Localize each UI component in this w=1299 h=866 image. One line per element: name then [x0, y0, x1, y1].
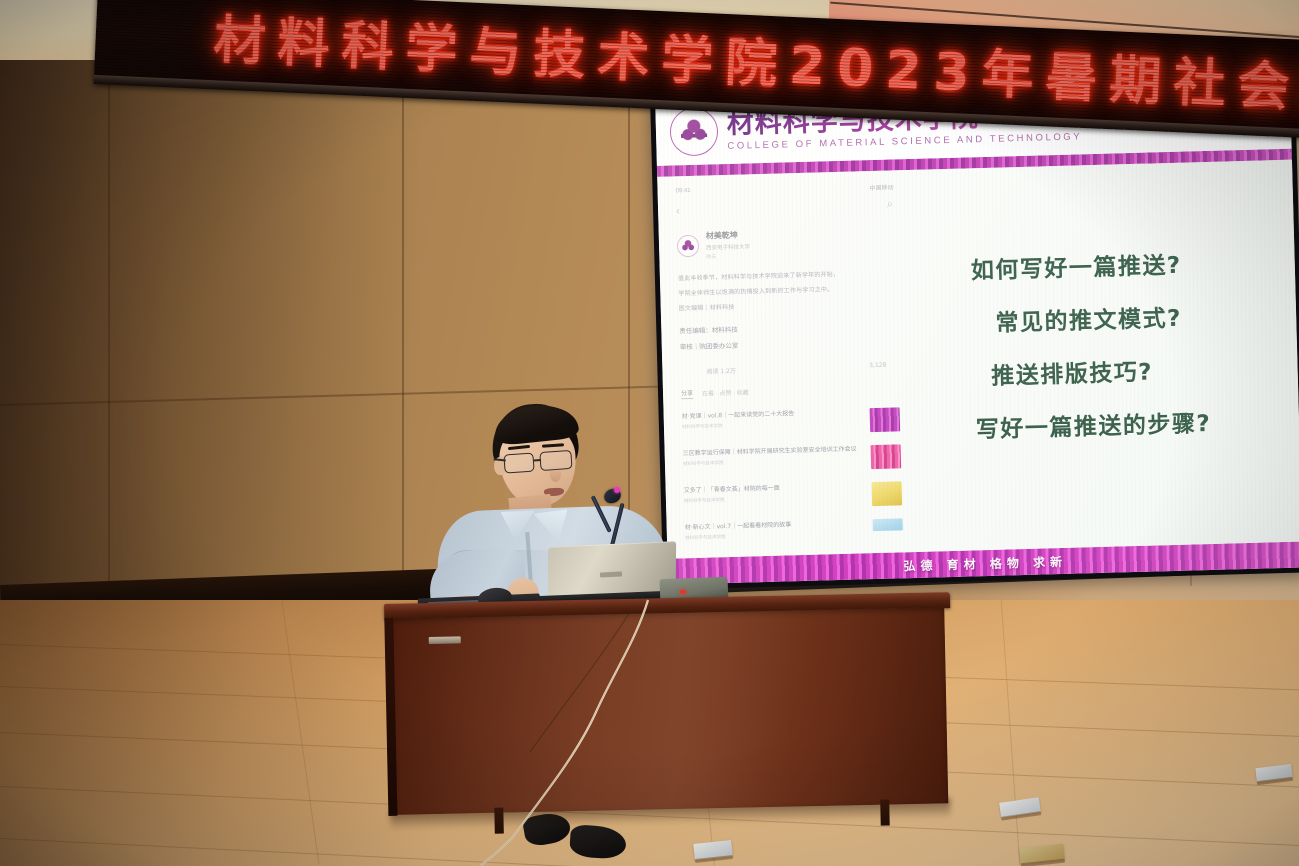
presenter-nose	[550, 466, 561, 482]
laptop-badge	[600, 572, 622, 578]
secondary-actions[interactable]: 在看 · 点赞 · 收藏	[702, 387, 749, 397]
article-paragraph: 值此丰收季节，材料科学与技术学院迎来了新学年的开始， 学院全体师生以饱满的热情投…	[678, 268, 897, 314]
read-count: 阅读 1.2万	[706, 365, 736, 375]
phone-status-bar: 09:41 中国移动	[676, 182, 894, 197]
article-signature: 责任编辑：材料科技 审核｜院团委办公室	[679, 319, 898, 351]
lecture-hall-photo: 材料科学与技术学院 COLLEGE OF MATERIAL SCIENCE AN…	[0, 0, 1299, 866]
slide-question-list: 如何写好一篇推送? 常见的推文模式? 推送排版技巧? 写好一篇推送的步骤?	[907, 160, 1299, 552]
microphone-indicator-ring	[614, 487, 620, 493]
emblem-glyph	[681, 118, 708, 145]
account-name: 材美乾坤	[706, 229, 750, 241]
floor-booklet	[1255, 764, 1292, 782]
podium-leg-right	[880, 799, 890, 825]
college-emblem-icon	[669, 107, 718, 156]
like-count: 3,128	[869, 361, 886, 370]
floor-booklet	[1019, 844, 1064, 865]
question-4: 写好一篇推送的步骤?	[975, 403, 1211, 443]
article-thumbnail	[870, 407, 901, 432]
account-subtitle: 西安电子科技大学	[706, 242, 750, 251]
search-icon: ⌕	[887, 198, 895, 211]
podium-nameplate	[429, 636, 461, 644]
floor-grout	[1001, 600, 1021, 865]
sign-line-1: 责任编辑：材料科技	[679, 319, 897, 335]
slide-body: 09:41 中国移动 ‹ ⌕ 材美乾坤 西安电子科技大学 昨天	[657, 160, 1299, 559]
question-2: 常见的推文模式?	[995, 298, 1182, 337]
podium-leg-left	[494, 808, 504, 834]
article-line-1: 值此丰收季节，材料科学与技术学院迎来了新学年的开始，	[678, 268, 896, 284]
sign-line-2: 审核｜院团委办公室	[680, 335, 898, 351]
status-carrier: 中国移动	[869, 182, 893, 192]
floor-shadow-left	[0, 600, 430, 866]
avatar	[677, 235, 700, 258]
lectern-podium	[384, 592, 955, 836]
projection-screen: 材料科学与技术学院 COLLEGE OF MATERIAL SCIENCE AN…	[650, 79, 1299, 590]
microphone-power-led	[680, 590, 686, 594]
article-meta-row: 阅读 1.2万 3,128	[680, 361, 898, 376]
podium-sheen	[390, 607, 948, 815]
account-date: 昨天	[706, 252, 750, 260]
floor-booklet	[693, 840, 732, 860]
question-3: 推送排版技巧?	[991, 352, 1154, 390]
slide-footer-motto: 弘德 育材 格物 求新	[903, 552, 1067, 573]
share-action[interactable]: 分享	[681, 388, 693, 399]
article-thumbnail	[871, 444, 902, 469]
glasses-lens-left	[503, 453, 534, 474]
article-thumbnail	[872, 481, 903, 506]
phone-nav-row: ‹ ⌕	[676, 198, 894, 217]
back-chevron-icon: ‹	[676, 205, 680, 217]
article-action-row: 分享 在看 · 点赞 · 收藏	[681, 382, 899, 399]
article-caption: 图文编辑｜材料科技	[679, 299, 897, 315]
question-1: 如何写好一篇推送?	[970, 245, 1182, 285]
slide-surface: 材料科学与技术学院 COLLEGE OF MATERIAL SCIENCE AN…	[655, 83, 1299, 585]
article-thumbnail	[873, 518, 903, 531]
status-time: 09:41	[676, 188, 691, 197]
article-line-2: 学院全体师生以饱满的热情投入到新的工作与学习之中。	[678, 284, 896, 300]
account-row: 材美乾坤 西安电子科技大学 昨天	[677, 225, 896, 261]
